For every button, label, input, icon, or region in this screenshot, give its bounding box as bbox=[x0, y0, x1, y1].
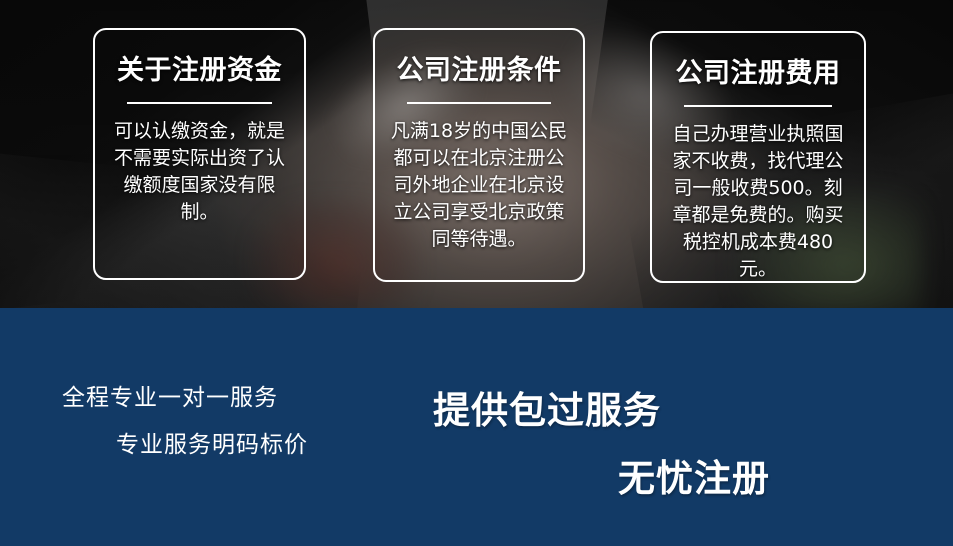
info-card-title: 关于注册资金 bbox=[109, 30, 290, 86]
info-card-title: 公司注册费用 bbox=[666, 33, 850, 89]
info-card-registered-capital: 关于注册资金 可以认缴资金，就是不需要实际出资了认缴额度国家没有限制。 bbox=[93, 28, 306, 280]
slogan-right-line-2: 无忧注册 bbox=[618, 448, 770, 502]
slogan-section: 全程专业一对一服务 专业服务明码标价 提供包过服务 无忧注册 bbox=[0, 308, 953, 546]
info-card-title: 公司注册条件 bbox=[389, 30, 569, 86]
promo-banner: 关于注册资金 可以认缴资金，就是不需要实际出资了认缴额度国家没有限制。 公司注册… bbox=[0, 0, 953, 546]
slogan-left-line-2: 专业服务明码标价 bbox=[116, 425, 308, 459]
info-card-body: 自己办理营业执照国家不收费，找代理公司一般收费500。刻章都是免费的。购买税控机… bbox=[666, 107, 850, 283]
info-card-registration-fees: 公司注册费用 自己办理营业执照国家不收费，找代理公司一般收费500。刻章都是免费… bbox=[650, 31, 866, 283]
slogan-right-line-1: 提供包过服务 bbox=[433, 380, 661, 434]
slogan-left-line-1: 全程专业一对一服务 bbox=[62, 378, 278, 412]
info-card-body: 凡满18岁的中国公民都可以在北京注册公司外地企业在北京设立公司享受北京政策同等待… bbox=[389, 104, 569, 253]
info-card-body: 可以认缴资金，就是不需要实际出资了认缴额度国家没有限制。 bbox=[109, 104, 290, 226]
photo-hero-section: 关于注册资金 可以认缴资金，就是不需要实际出资了认缴额度国家没有限制。 公司注册… bbox=[0, 0, 953, 308]
info-card-registration-conditions: 公司注册条件 凡满18岁的中国公民都可以在北京注册公司外地企业在北京设立公司享受… bbox=[373, 28, 585, 282]
